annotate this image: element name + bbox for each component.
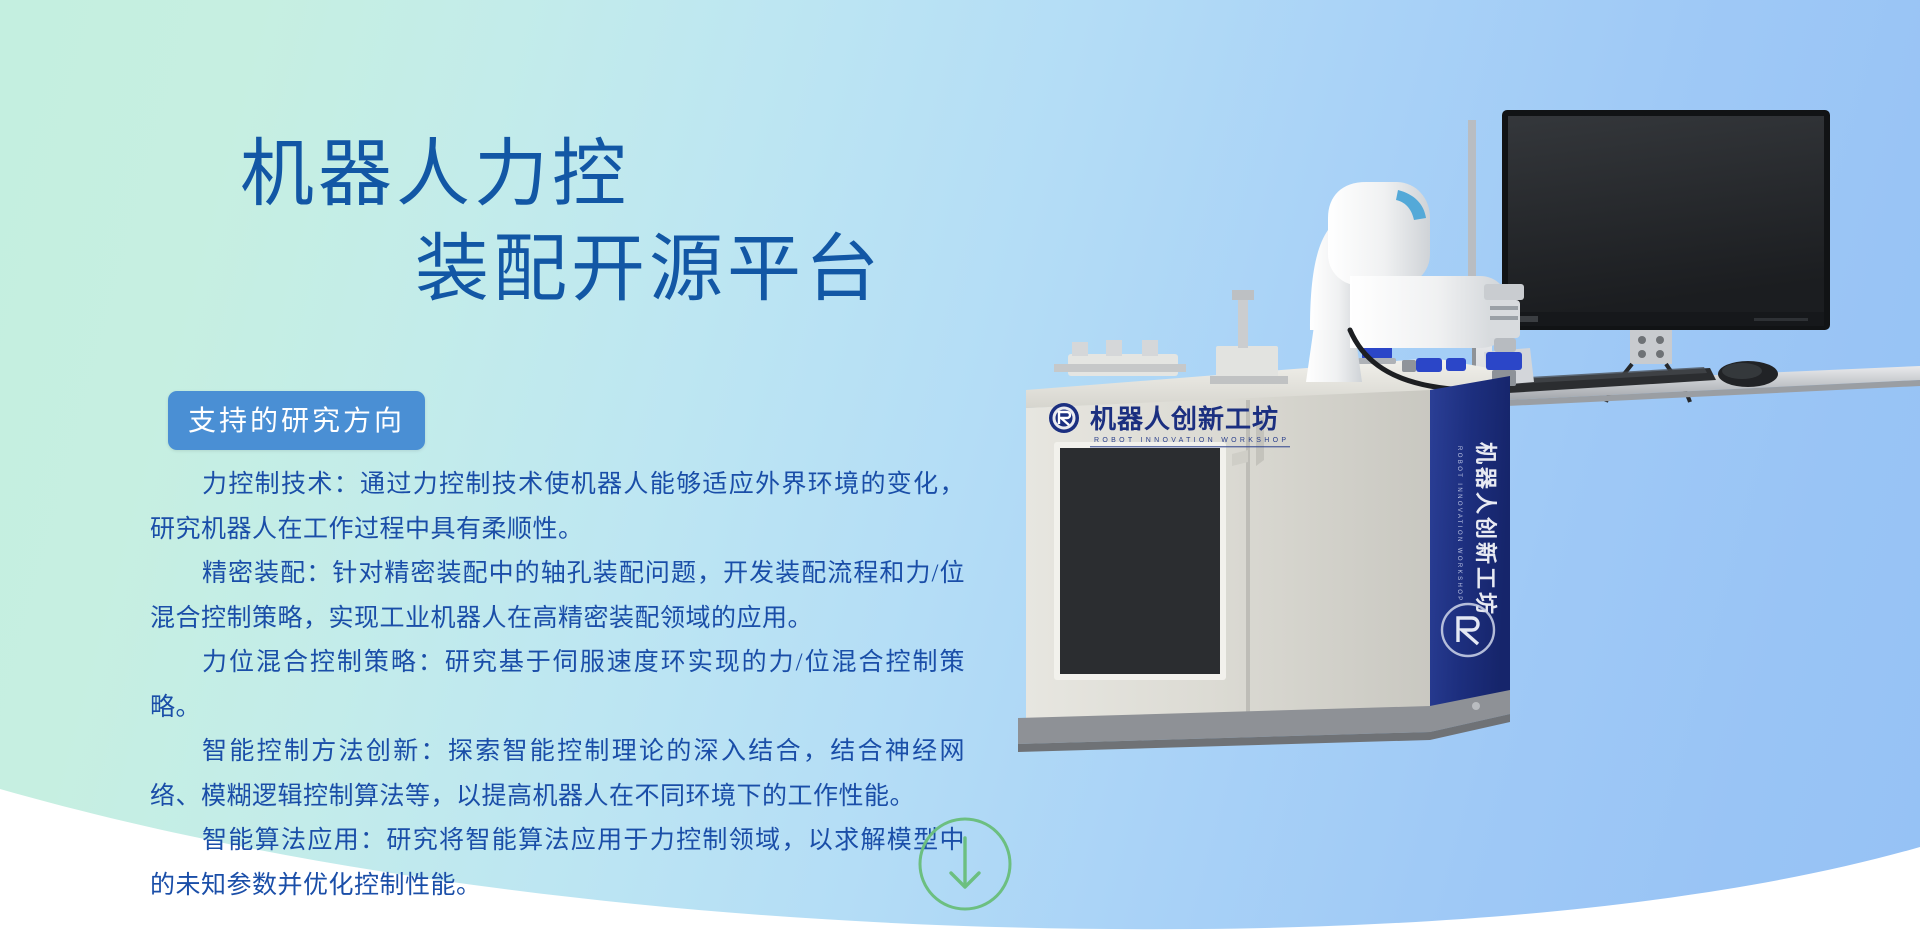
hero-title-line-1: 机器人力控 (0, 128, 1000, 223)
research-direction-item: 精密装配：针对精密装配中的轴孔装配问题，开发装配流程和力/位混合控制策略，实现工… (150, 552, 965, 641)
hero-banner: 机器人创新工坊 ROBOT INNOVATION WORKSHOP 机器人创新工… (0, 0, 1920, 937)
hero-title: 机器人力控 装配开源平台 (0, 128, 1000, 317)
svg-text:ROBOT INNOVATION WORKSHOP: ROBOT INNOVATION WORKSHOP (1456, 446, 1462, 603)
research-direction-item: 智能算法应用：研究将智能算法应用于力控制领域，以求解模型中的未知参数并优化控制性… (150, 819, 965, 908)
robot-arm (1306, 182, 1524, 389)
research-direction-item: 智能控制方法创新：探索智能控制理论的深入结合，结合神经网络、模糊逻辑控制算法等，… (150, 730, 965, 819)
svg-text:机器人创新工坊: 机器人创新工坊 (1090, 404, 1279, 434)
scroll-down-button[interactable] (917, 816, 1013, 912)
svg-text:ROBOT INNOVATION WORKSHOP: ROBOT INNOVATION WORKSHOP (1094, 437, 1289, 444)
machine-photo: 机器人创新工坊 ROBOT INNOVATION WORKSHOP 机器人创新工… (1010, 90, 1920, 790)
svg-text:机器人创新工坊: 机器人创新工坊 (1473, 442, 1498, 617)
arrow-down-icon (951, 838, 979, 887)
research-direction-item: 力位混合控制策略：研究基于伺服速度环实现的力/位混合控制策略。 (150, 641, 965, 730)
hero-content: 机器人力控 装配开源平台 支持的研究方向 力控制技术：通过力控制技术使机器人能够… (0, 0, 1010, 937)
research-direction-item: 力控制技术：通过力控制技术使机器人能够适应外界环境的变化，研究机器人在工作过程中… (150, 463, 965, 552)
hero-title-line-2: 装配开源平台 (0, 223, 1000, 318)
research-directions-list: 力控制技术：通过力控制技术使机器人能够适应外界环境的变化，研究机器人在工作过程中… (150, 463, 965, 908)
research-directions-badge: 支持的研究方向 (168, 391, 425, 450)
keyboard-tray (1466, 348, 1920, 408)
